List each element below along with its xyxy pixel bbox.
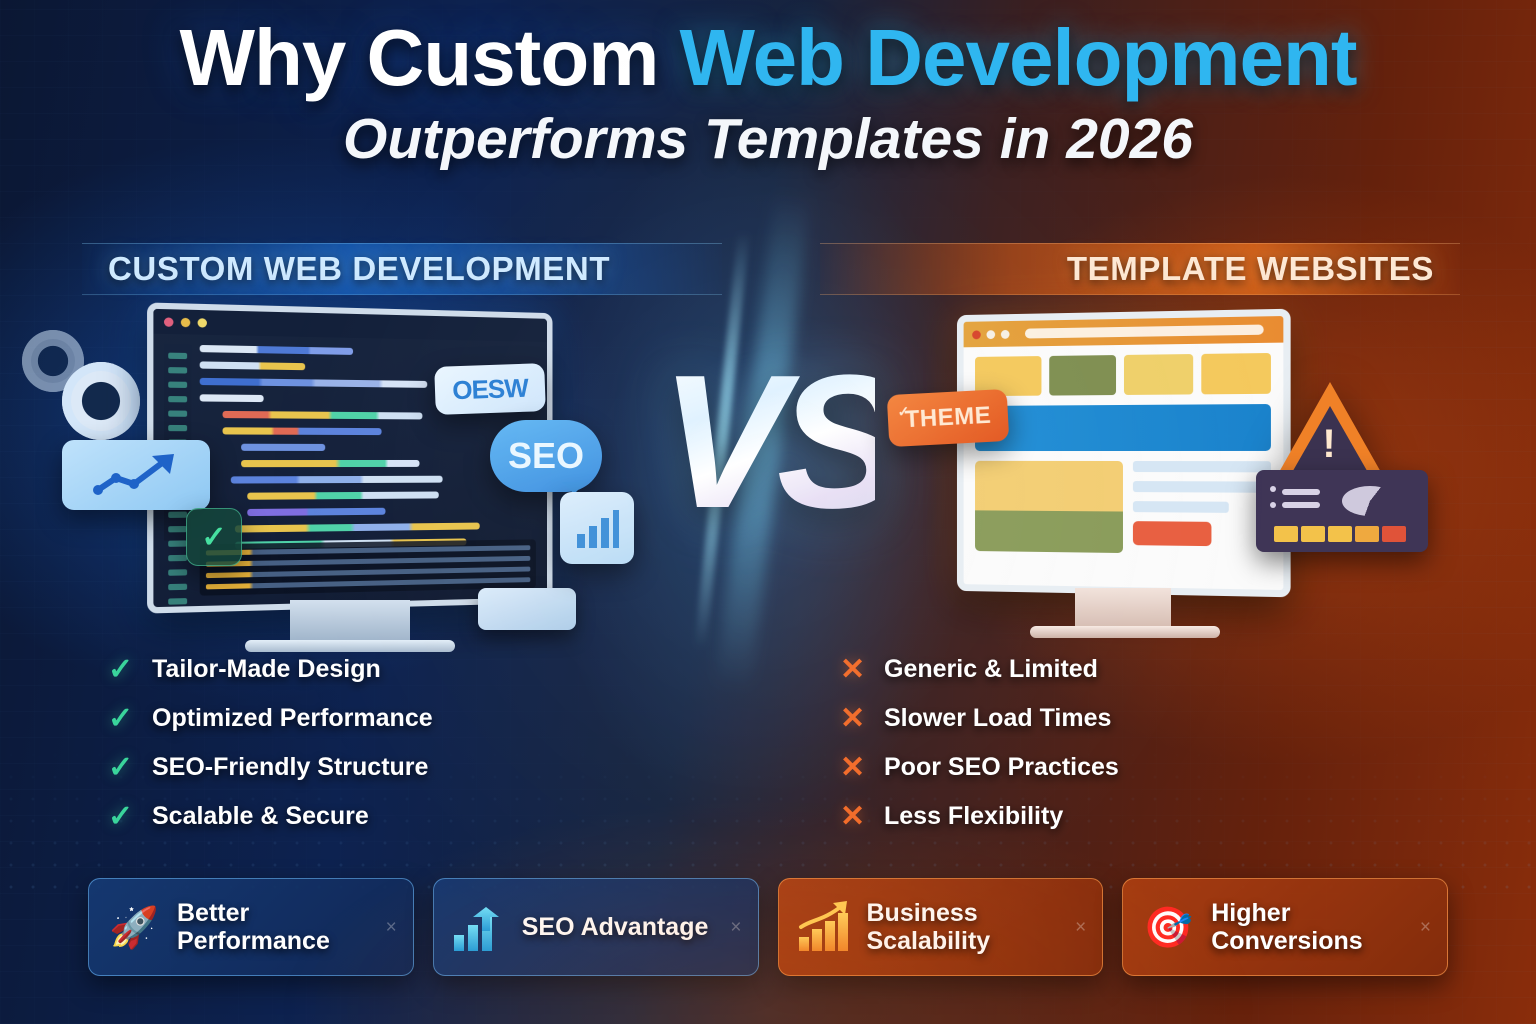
gauge-needle [1342, 486, 1398, 516]
window-minimize-dot [986, 330, 995, 339]
list-item: ✕ Less Flexibility [840, 792, 1400, 841]
list-item: ✕ Slower Load Times [840, 694, 1400, 743]
address-bar[interactable] [1025, 325, 1264, 339]
badge-seo-advantage[interactable]: SEO Advantage × [433, 878, 759, 976]
pros-list: ✓ Tailor-Made Design ✓ Optimized Perform… [108, 645, 668, 841]
gear-icon [62, 362, 140, 440]
infographic-canvas: Why Custom Web Development Outperforms T… [0, 0, 1536, 1024]
title-line-1: Why Custom Web Development [0, 18, 1536, 98]
template-tile [1124, 354, 1193, 395]
badge-label: Better Performance [177, 899, 397, 955]
monitor-stand [1075, 588, 1171, 628]
list-item: ✕ Generic & Limited [840, 645, 1400, 694]
list-item-label: Generic & Limited [884, 655, 1098, 684]
template-hero-banner [975, 404, 1271, 451]
warning-exclamation: ! [1322, 424, 1336, 464]
keyboard-icon [478, 588, 576, 630]
window-close-dot [972, 330, 981, 339]
badge-label: SEO Advantage [522, 913, 709, 941]
badge-better-performance[interactable]: 🚀 Better Performance × [88, 878, 414, 976]
list-item-label: SEO-Friendly Structure [152, 753, 428, 782]
cons-list: ✕ Generic & Limited ✕ Slower Load Times … [840, 645, 1400, 841]
column-header-custom: CUSTOM WEB DEVELOPMENT [82, 243, 722, 295]
target-dart-icon: 🎯 [1139, 898, 1197, 956]
check-icon: ✓ [108, 750, 152, 785]
template-body [964, 451, 1284, 555]
window-close-dot [164, 317, 173, 327]
bar-chart-up-icon [450, 898, 508, 956]
gauge-icon [1256, 470, 1428, 552]
template-tile-row [964, 343, 1284, 397]
title-plain: Why Custom [179, 13, 679, 102]
list-item: ✕ Poor SEO Practices [840, 743, 1400, 792]
title-accent: Web Development [680, 13, 1357, 102]
template-text-lines [1133, 461, 1271, 555]
brand-logo-chip: OESW [434, 363, 546, 415]
list-item-label: Optimized Performance [152, 704, 433, 733]
list-item-label: Poor SEO Practices [884, 753, 1119, 782]
check-icon: ✓ [108, 701, 152, 736]
close-icon[interactable]: × [386, 917, 397, 939]
close-icon[interactable]: × [1420, 917, 1431, 939]
list-item-label: Less Flexibility [884, 802, 1063, 831]
gauge-segments [1274, 526, 1406, 542]
list-item: ✓ SEO-Friendly Structure [108, 743, 668, 792]
cross-icon: ✕ [840, 799, 884, 834]
list-item-label: Tailor-Made Design [152, 655, 381, 684]
list-item-label: Slower Load Times [884, 704, 1111, 733]
check-icon: ✓ [108, 652, 152, 687]
monitor-icon [957, 309, 1291, 598]
column-header-template: TEMPLATE WEBSITES [820, 243, 1460, 295]
placeholder-image [975, 461, 1123, 553]
template-tile [1049, 355, 1116, 396]
template-cta-button[interactable] [1133, 521, 1212, 546]
benefit-badge-row: 🚀 Better Performance × SEO Advantage × [88, 878, 1448, 976]
list-item: ✓ Optimized Performance [108, 694, 668, 743]
check-icon: ✓ [186, 508, 242, 566]
monitor-base [1030, 626, 1220, 638]
cross-icon: ✕ [840, 750, 884, 785]
template-tile [1201, 353, 1271, 394]
theme-badge-label: THEME [904, 402, 992, 434]
badge-business-scalability[interactable]: Business Scalability × [778, 878, 1104, 976]
page-title: Why Custom Web Development Outperforms T… [0, 18, 1536, 172]
title-line-2: Outperforms Templates in 2026 [0, 106, 1536, 172]
list-item: ✓ Scalable & Secure [108, 792, 668, 841]
window-minimize-dot [181, 317, 190, 326]
check-icon: ✓ [897, 403, 910, 421]
cross-icon: ✕ [840, 652, 884, 687]
seo-bubble-chip: SEO [490, 420, 602, 492]
monitor-stand [290, 600, 410, 642]
growth-chart-icon [795, 898, 853, 956]
editor-titlebar [153, 309, 547, 342]
versus-label: VS [660, 345, 875, 560]
bar-chart-icon [560, 492, 634, 564]
close-icon[interactable]: × [730, 917, 741, 939]
cross-icon: ✕ [840, 701, 884, 736]
badge-label: Business Scalability [867, 899, 1087, 955]
list-item: ✓ Tailor-Made Design [108, 645, 668, 694]
window-maximize-dot [198, 318, 207, 327]
list-item-label: Scalable & Secure [152, 802, 369, 831]
theme-badge-chip: ✓ THEME [887, 389, 1010, 447]
close-icon[interactable]: × [1075, 917, 1086, 939]
window-maximize-dot [1001, 329, 1010, 338]
template-website-screen [957, 309, 1291, 598]
column-header-template-label: TEMPLATE WEBSITES [1067, 250, 1434, 288]
growth-chart-icon [62, 440, 210, 510]
rocket-icon: 🚀 [105, 898, 163, 956]
badge-higher-conversions[interactable]: 🎯 Higher Conversions × [1122, 878, 1448, 976]
column-header-custom-label: CUSTOM WEB DEVELOPMENT [108, 250, 610, 288]
check-icon: ✓ [108, 799, 152, 834]
badge-label: Higher Conversions [1211, 899, 1431, 955]
